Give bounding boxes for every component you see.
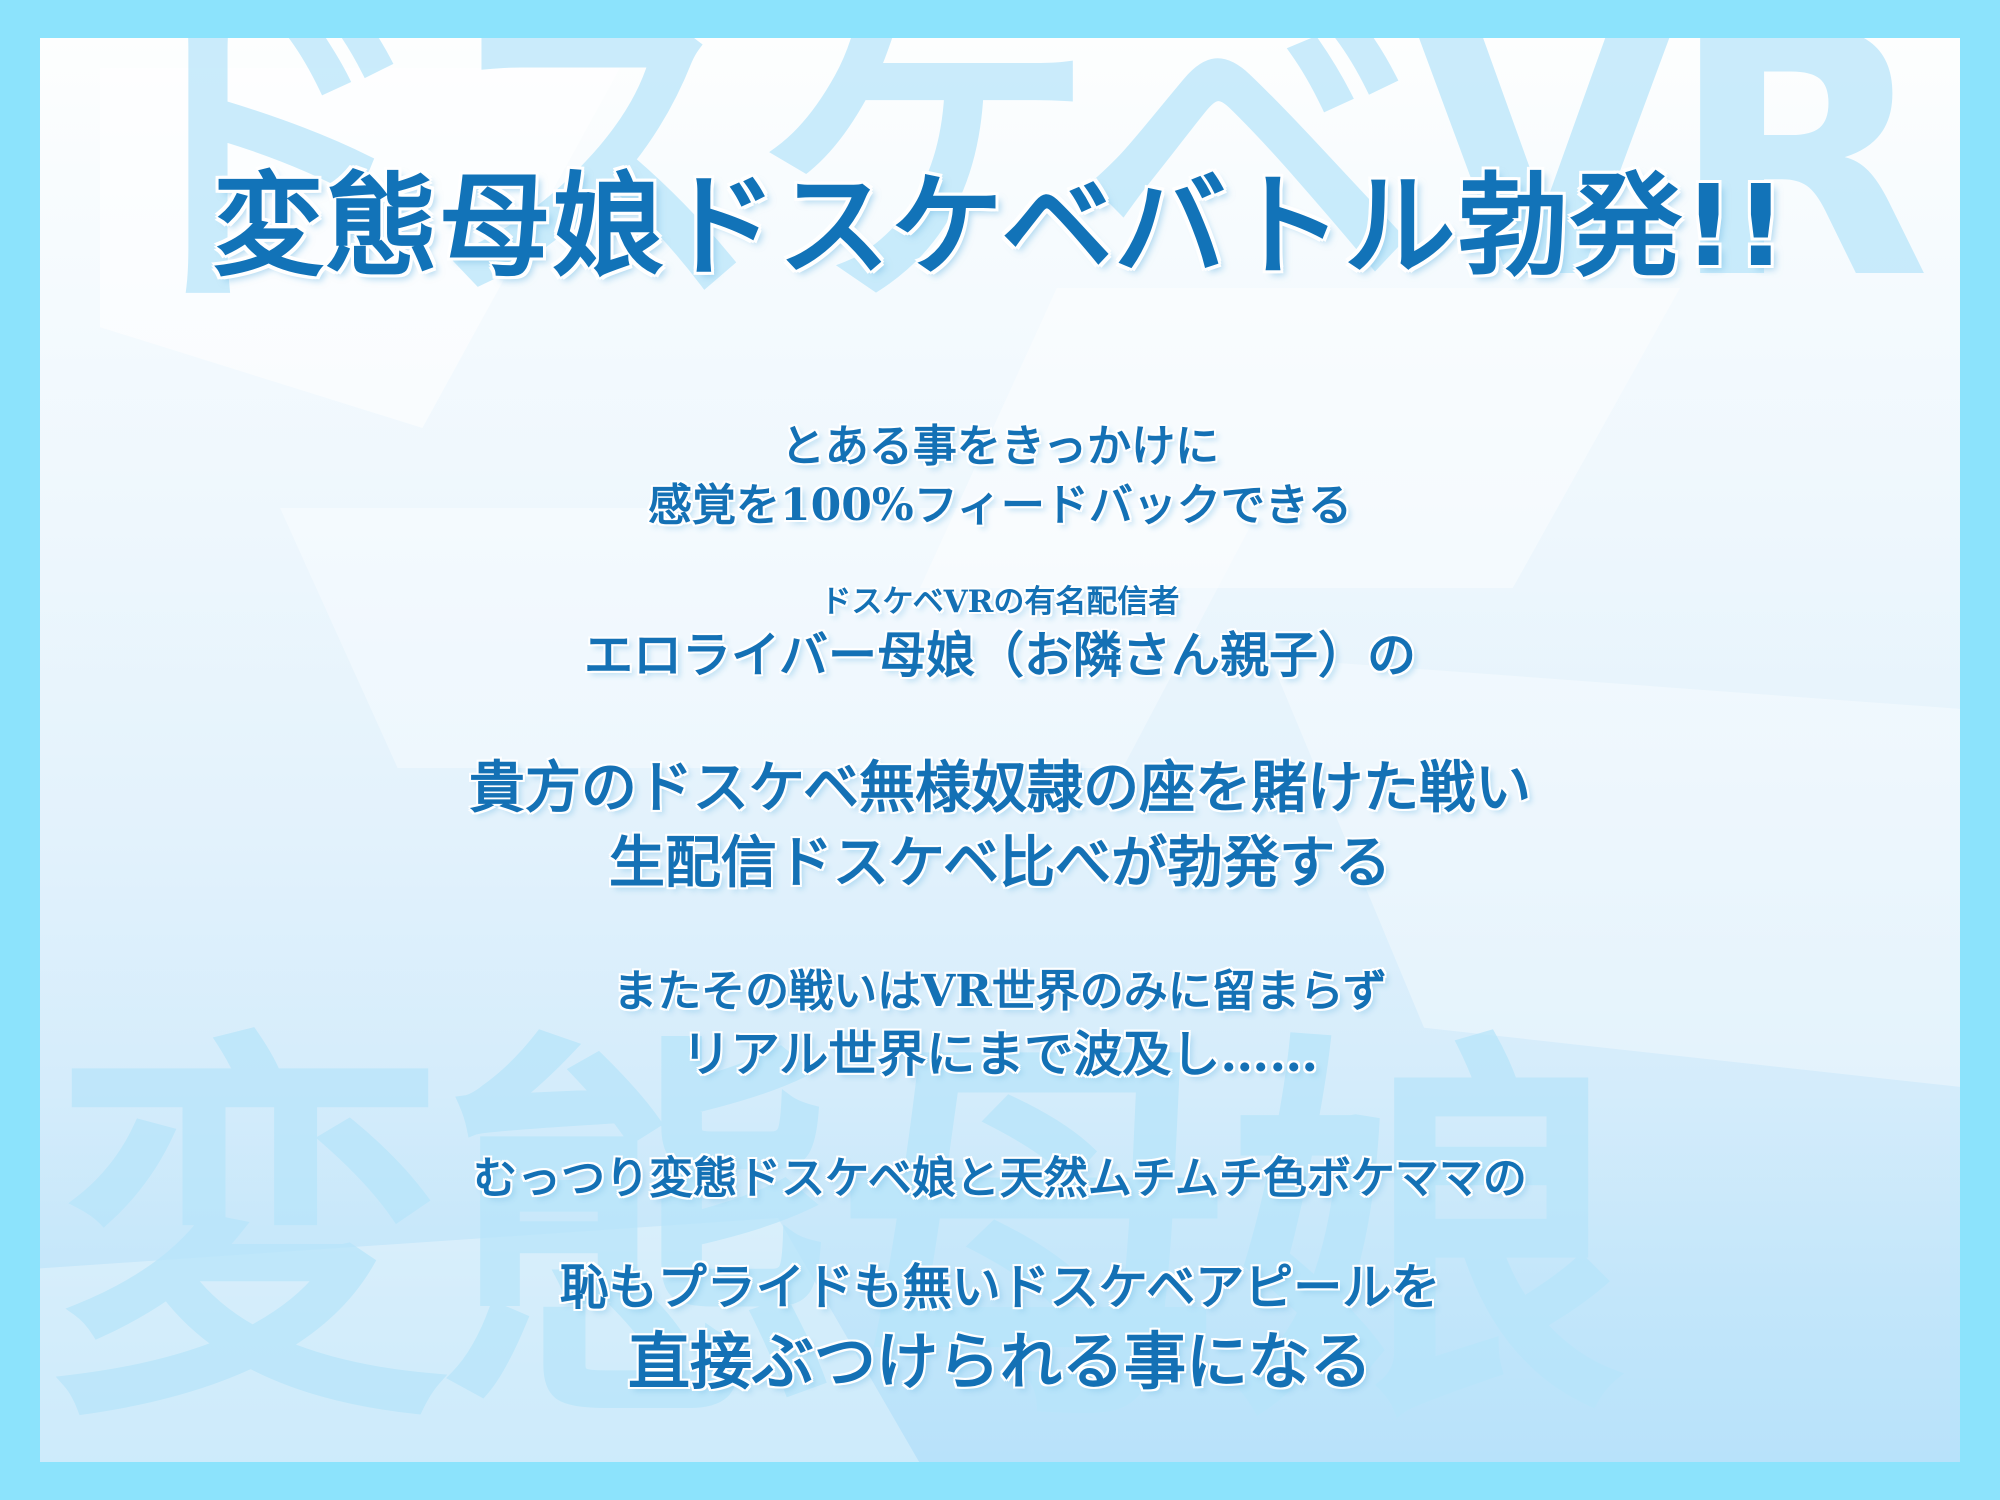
description-line: 貴方のドスケベ無様奴隷の座を賭けた戦い [40,751,1960,826]
description-blocks: とある事をきっかけに感覚を100%フィードバックできるドスケベVRの有名配信者エ… [40,418,1960,1403]
block-spacer [40,1088,1960,1150]
description-line: 生配信ドスケベ比べが勃発する [40,826,1960,901]
block-spacer [40,1209,1960,1255]
description-line: 恥もプライドも無いドスケベアピールを [40,1255,1960,1321]
description-line: エロライバー母娘（お隣さん親子）の [40,623,1960,689]
block-spacer [40,689,1960,751]
description-line: とある事をきっかけに [40,418,1960,477]
description-block: 恥もプライドも無いドスケベアピールを直接ぶつけられる事になる [40,1255,1960,1404]
block-spacer [40,536,1960,582]
description-block: 貴方のドスケベ無様奴隷の座を賭けた戦い生配信ドスケベ比べが勃発する [40,751,1960,901]
description-line: 感覚を100%フィードバックできる [40,477,1960,536]
description-block: とある事をきっかけに感覚を100%フィードバックできる [40,418,1960,536]
poster-panel: ドスケベVR 変態母娘 変態母娘ドスケベバトル勃発!! とある事をきっかけに感覚… [40,38,1960,1462]
block-spacer [40,901,1960,963]
description-line: リアル世界にまで波及し…… [40,1022,1960,1088]
description-line: またその戦いはVR世界のみに留まらず [40,963,1960,1022]
poster-root: ドスケベVR 変態母娘 変態母娘ドスケベバトル勃発!! とある事をきっかけに感覚… [0,0,2000,1500]
description-block: むっつり変態ドスケベ娘と天然ムチムチ色ボケママの [40,1150,1960,1209]
page-title: 変態母娘ドスケベバトル勃発!! [40,168,1960,287]
description-block: またその戦いはVR世界のみに留まらずリアル世界にまで波及し…… [40,963,1960,1088]
description-block: ドスケベVRの有名配信者エロライバー母娘（お隣さん親子）の [40,582,1960,689]
poster-content: 変態母娘ドスケベバトル勃発!! とある事をきっかけに感覚を100%フィードバック… [40,38,1960,1462]
description-line: ドスケベVRの有名配信者 [40,582,1960,624]
description-line: むっつり変態ドスケベ娘と天然ムチムチ色ボケママの [40,1150,1960,1209]
description-line: 直接ぶつけられる事になる [40,1320,1960,1403]
